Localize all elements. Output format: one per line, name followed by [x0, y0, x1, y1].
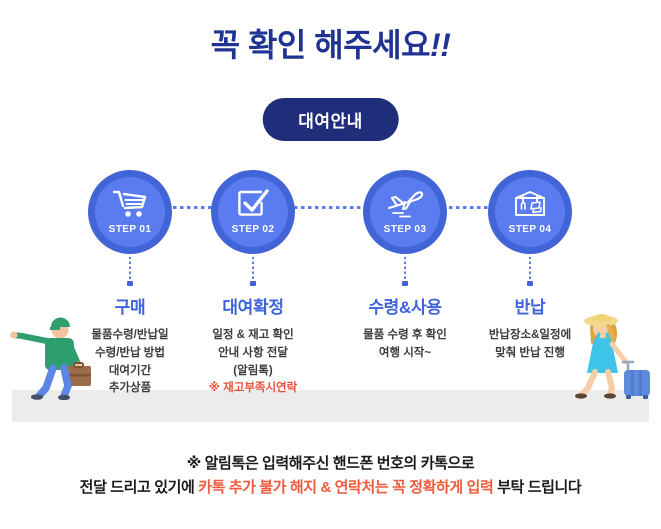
step-description-2: 일정 & 재고 확인 안내 사항 전달 (알림톡) ※ 재고부족시연락 [178, 327, 328, 398]
step-desc-line: 안내 사항 전달 [178, 345, 328, 363]
step-drop-line [404, 257, 406, 281]
airplane-takeoff-icon [385, 189, 425, 219]
footer-line-2-highlight: 카톡 추가 불가 해지 & 연락처는 꼭 정확하게 입력 [198, 479, 493, 496]
step-drop-line [252, 257, 254, 281]
step-item-2[interactable]: STEP 02 대여확정 일정 & 재고 확인 안내 사항 전달 (알림톡) ※… [178, 170, 328, 398]
step-circle-1[interactable]: STEP 01 [88, 170, 172, 254]
return-package-box-icon [513, 189, 547, 220]
step-item-4[interactable]: STEP 04 반납 반납장소&일정에 맞춰 반납 진행 [455, 170, 605, 363]
rental-guide-infographic: 꼭 확인 해주세요!! 대여안내 [0, 0, 661, 529]
step-number-label: STEP 04 [495, 224, 565, 235]
footer-notice: ※ 알림톡은 입력해주신 핸드폰 번호의 카톡으로 전달 드리고 있기에 카톡 … [0, 452, 661, 501]
rental-guide-badge: 대여안내 [262, 98, 399, 141]
step-description-4: 반납장소&일정에 맞춰 반납 진행 [455, 327, 605, 363]
checkbox-check-icon [237, 189, 269, 220]
step-heading-4: 반납 [455, 293, 605, 318]
page-title-exclamation: !! [430, 27, 450, 63]
step-circle-inner: STEP 02 [218, 177, 288, 247]
step-number-label: STEP 01 [95, 224, 165, 235]
step-circle-4[interactable]: STEP 04 [488, 170, 572, 254]
footer-line-2: 전달 드리고 있기에 카톡 추가 불가 해지 & 연락처는 꼭 정확하게 입력 … [0, 476, 661, 500]
steps-row: STEP 01 구매 물품수령/반납일 수령/반납 방법 대여기간 추가상품 [0, 170, 661, 385]
page-title: 꼭 확인 해주세요!! [0, 20, 661, 66]
step-heading-2: 대여확정 [178, 293, 328, 318]
step-drop-line [129, 257, 131, 281]
step-circle-inner: STEP 04 [495, 177, 565, 247]
footer-line-2-post: 부탁 드립니다 [493, 479, 581, 496]
step-number-label: STEP 02 [218, 224, 288, 235]
step-desc-line: 일정 & 재고 확인 [178, 327, 328, 345]
step-desc-line: 맞춰 반납 진행 [455, 345, 605, 363]
footer-line-2-pre: 전달 드리고 있기에 [80, 479, 199, 496]
footer-line-1: ※ 알림톡은 입력해주신 핸드폰 번호의 카톡으로 [0, 452, 661, 476]
step-circle-2[interactable]: STEP 02 [211, 170, 295, 254]
step-desc-line: (알림톡) [178, 363, 328, 381]
step-drop-dot [127, 281, 133, 286]
shopping-cart-icon [112, 189, 148, 219]
step-circle-inner: STEP 01 [95, 177, 165, 247]
page-title-text: 꼭 확인 해주세요 [211, 27, 430, 63]
step-drop-dot [250, 281, 256, 286]
step-drop-dot [402, 281, 408, 286]
step-warning-note: ※ 재고부족시연락 [178, 380, 328, 398]
step-drop-line [529, 257, 531, 281]
step-circle-3[interactable]: STEP 03 [363, 170, 447, 254]
step-drop-dot [527, 281, 533, 286]
step-number-label: STEP 03 [370, 224, 440, 235]
step-desc-line: 반납장소&일정에 [455, 327, 605, 345]
step-circle-inner: STEP 03 [370, 177, 440, 247]
